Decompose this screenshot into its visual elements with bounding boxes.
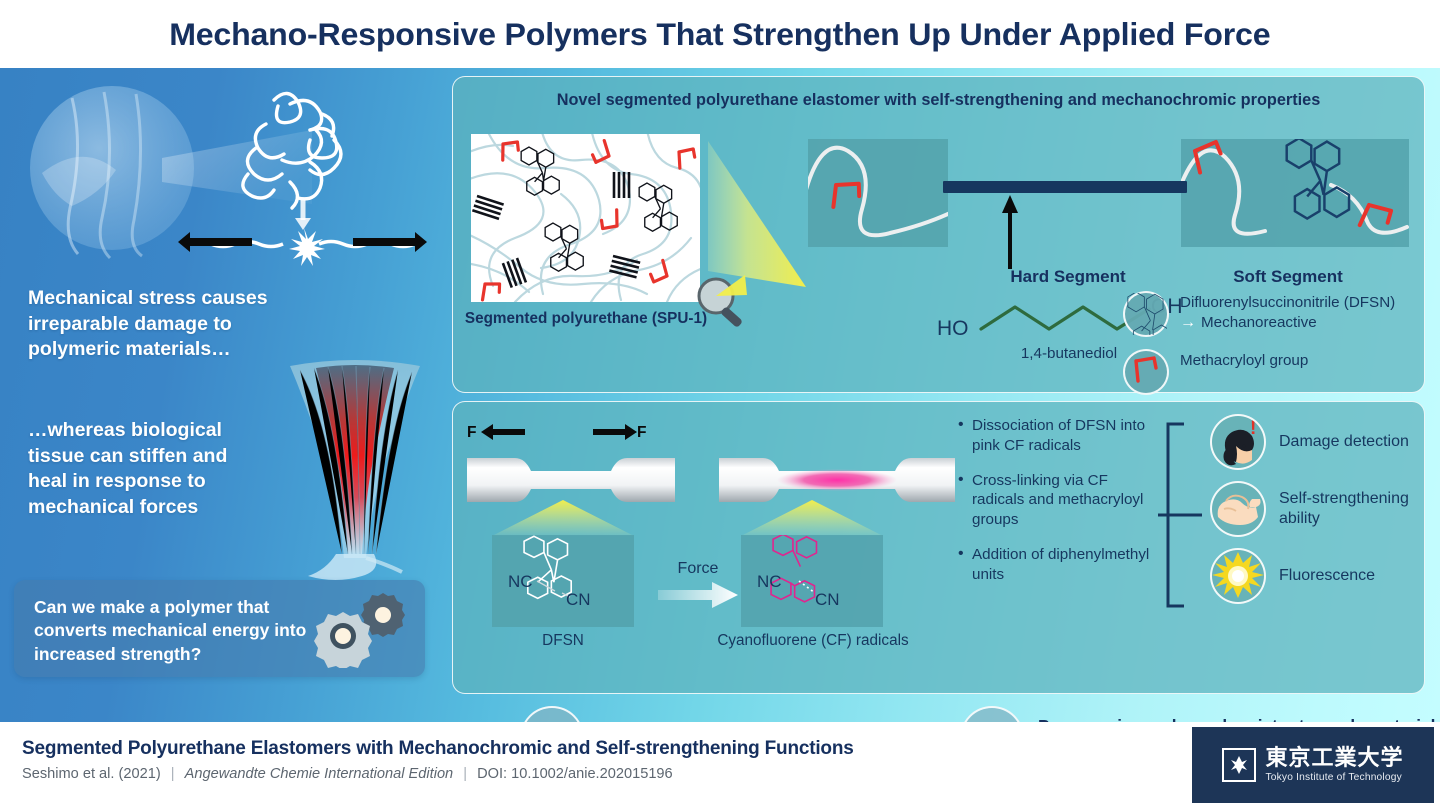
cf-nc-label: NC	[757, 572, 782, 591]
hard-segment-pointer-arrow	[1001, 195, 1019, 269]
specimen-before-caption: DFSN	[492, 632, 634, 650]
left-statement-2: …whereas biological tissue can stiffen a…	[28, 418, 268, 521]
legend-dfsn-name: Difluorenylsuccinonitrile (DFSN)	[1180, 293, 1395, 312]
legend-item-dfsn: Difluorenylsuccinonitrile (DFSN) → Mecha…	[1123, 291, 1395, 337]
methacryloyl-group-icon	[1123, 349, 1169, 395]
spu-network-diagram	[471, 134, 700, 302]
logo-text-column: 東京工業大学 Tokyo Institute of Technology	[1265, 747, 1403, 783]
citation-journal: Angewandte Chemie International Edition	[185, 766, 454, 782]
conclusion-2-label: Progress in mechanochemistry towards mat…	[1038, 715, 1440, 722]
cf-radical-molecule-diagram: NC CN	[741, 535, 883, 627]
dfsn-cn-label: CN	[566, 590, 591, 609]
dfsn-molecule-diagram: NC CN	[492, 535, 634, 627]
citation-authors: Seshimo et al. (2021)	[22, 766, 161, 782]
research-question-text: Can we make a polymer that converts mech…	[34, 596, 314, 666]
citation-separator: |	[171, 766, 175, 782]
legend-methacryloyl-name: Methacryloyl group	[1180, 351, 1308, 370]
gears-icon	[300, 592, 415, 668]
list-item: Cross-linking via CF radicals and methac…	[958, 471, 1158, 530]
check-icon	[520, 706, 584, 722]
force-label-right: F	[637, 424, 646, 442]
specimen-after-beam	[741, 500, 883, 538]
damage-detection-icon: !	[1210, 414, 1266, 470]
right-arrow-icon: →	[1180, 315, 1196, 331]
infographic-canvas: Mechanical stress causes irreparable dam…	[0, 68, 1440, 722]
list-item: Dissociation of DFSN into pink CF radica…	[958, 416, 1158, 456]
left-statement-1: Mechanical stress causes irreparable dam…	[28, 286, 318, 363]
flexed-biceps-icon	[1210, 481, 1266, 537]
left-column: Mechanical stress causes irreparable dam…	[0, 68, 450, 722]
outcome-fluorescence-label: Fluorescence	[1279, 566, 1375, 586]
polymer-damage-illustration	[12, 78, 442, 268]
citation-doi[interactable]: DOI: 10.1002/anie.202015196	[477, 766, 673, 782]
title-bar: Mechano-Responsive Polymers That Strengt…	[0, 0, 1440, 68]
force-transition-arrow-icon	[658, 582, 738, 608]
outcome-self-strengthening: Self-strengthening ability	[1210, 481, 1424, 537]
conclusion-2: Progress in mechanochemistry towards mat…	[960, 706, 1440, 722]
logo-japanese-name: 東京工業大学	[1265, 747, 1403, 769]
panel-design: Novel segmented polyurethane elastomer w…	[452, 76, 1425, 393]
specimen-after	[719, 454, 955, 506]
outcome-fluorescence: Fluorescence	[1210, 548, 1375, 604]
hard-segment-bar	[943, 181, 1187, 193]
check-icon	[960, 706, 1024, 722]
citation-separator: |	[463, 766, 467, 782]
dfsn-molecule-icon	[1123, 291, 1169, 337]
fluorescence-sun-icon	[1210, 548, 1266, 604]
citation-line: Seshimo et al. (2021) | Angewandte Chemi…	[22, 766, 673, 782]
specimen-before-beam	[492, 500, 634, 538]
force-arrow-left-icon	[481, 424, 525, 445]
research-question-box: Can we make a polymer that converts mech…	[14, 580, 425, 677]
chain-segment-right	[1181, 139, 1409, 247]
institution-logo: 東京工業大学 Tokyo Institute of Technology	[1192, 727, 1434, 803]
legend-item-methacryloyl: Methacryloyl group	[1123, 349, 1308, 395]
outcome-damage-detection-label: Damage detection	[1279, 432, 1409, 452]
panel-design-heading: Novel segmented polyurethane elastomer w…	[453, 90, 1424, 111]
tissue-illustration	[270, 358, 440, 583]
outcome-self-strengthening-label: Self-strengthening ability	[1279, 489, 1424, 529]
force-transition-label: Force	[653, 560, 743, 578]
alert-exclamation-icon: !	[1250, 418, 1256, 439]
chain-segment-left	[808, 139, 948, 247]
specimen-before	[467, 454, 675, 506]
logo-english-name: Tokyo Institute of Technology	[1265, 772, 1403, 783]
soft-segment-label: Soft Segment	[1143, 267, 1433, 287]
mechanism-bullet-list: Dissociation of DFSN into pink CF radica…	[958, 416, 1158, 584]
conclusion-1: Unprecedented mechanoresponsive polymers	[520, 706, 975, 722]
outcome-bracket	[1158, 422, 1210, 608]
paper-title: Segmented Polyurethane Elastomers with M…	[22, 738, 854, 760]
legend-dfsn-text: Difluorenylsuccinonitrile (DFSN) → Mecha…	[1180, 291, 1395, 333]
legend-dfsn-sub: Mechanoreactive	[1201, 313, 1317, 332]
legend-methacryloyl-text: Methacryloyl group	[1180, 349, 1308, 370]
panel-mechanism: F F	[452, 401, 1425, 694]
butanediol-ho-label: HO	[937, 317, 969, 340]
titech-crest-icon	[1222, 748, 1256, 782]
specimen-after-caption: Cyanofluorene (CF) radicals	[683, 632, 943, 650]
list-item: Addition of diphenylmethyl units	[958, 545, 1158, 585]
page-title: Mechano-Responsive Polymers That Strengt…	[169, 16, 1270, 53]
force-label-left: F	[467, 424, 476, 442]
logo-inner: 東京工業大学 Tokyo Institute of Technology	[1222, 747, 1403, 783]
force-arrow-right-icon	[593, 424, 637, 445]
cf-cn-label: CN	[815, 590, 840, 609]
outcome-damage-detection: ! Damage detection	[1210, 414, 1409, 470]
spu-caption: Segmented polyurethane (SPU-1)	[461, 309, 711, 329]
dfsn-nc-label: NC	[508, 572, 533, 591]
